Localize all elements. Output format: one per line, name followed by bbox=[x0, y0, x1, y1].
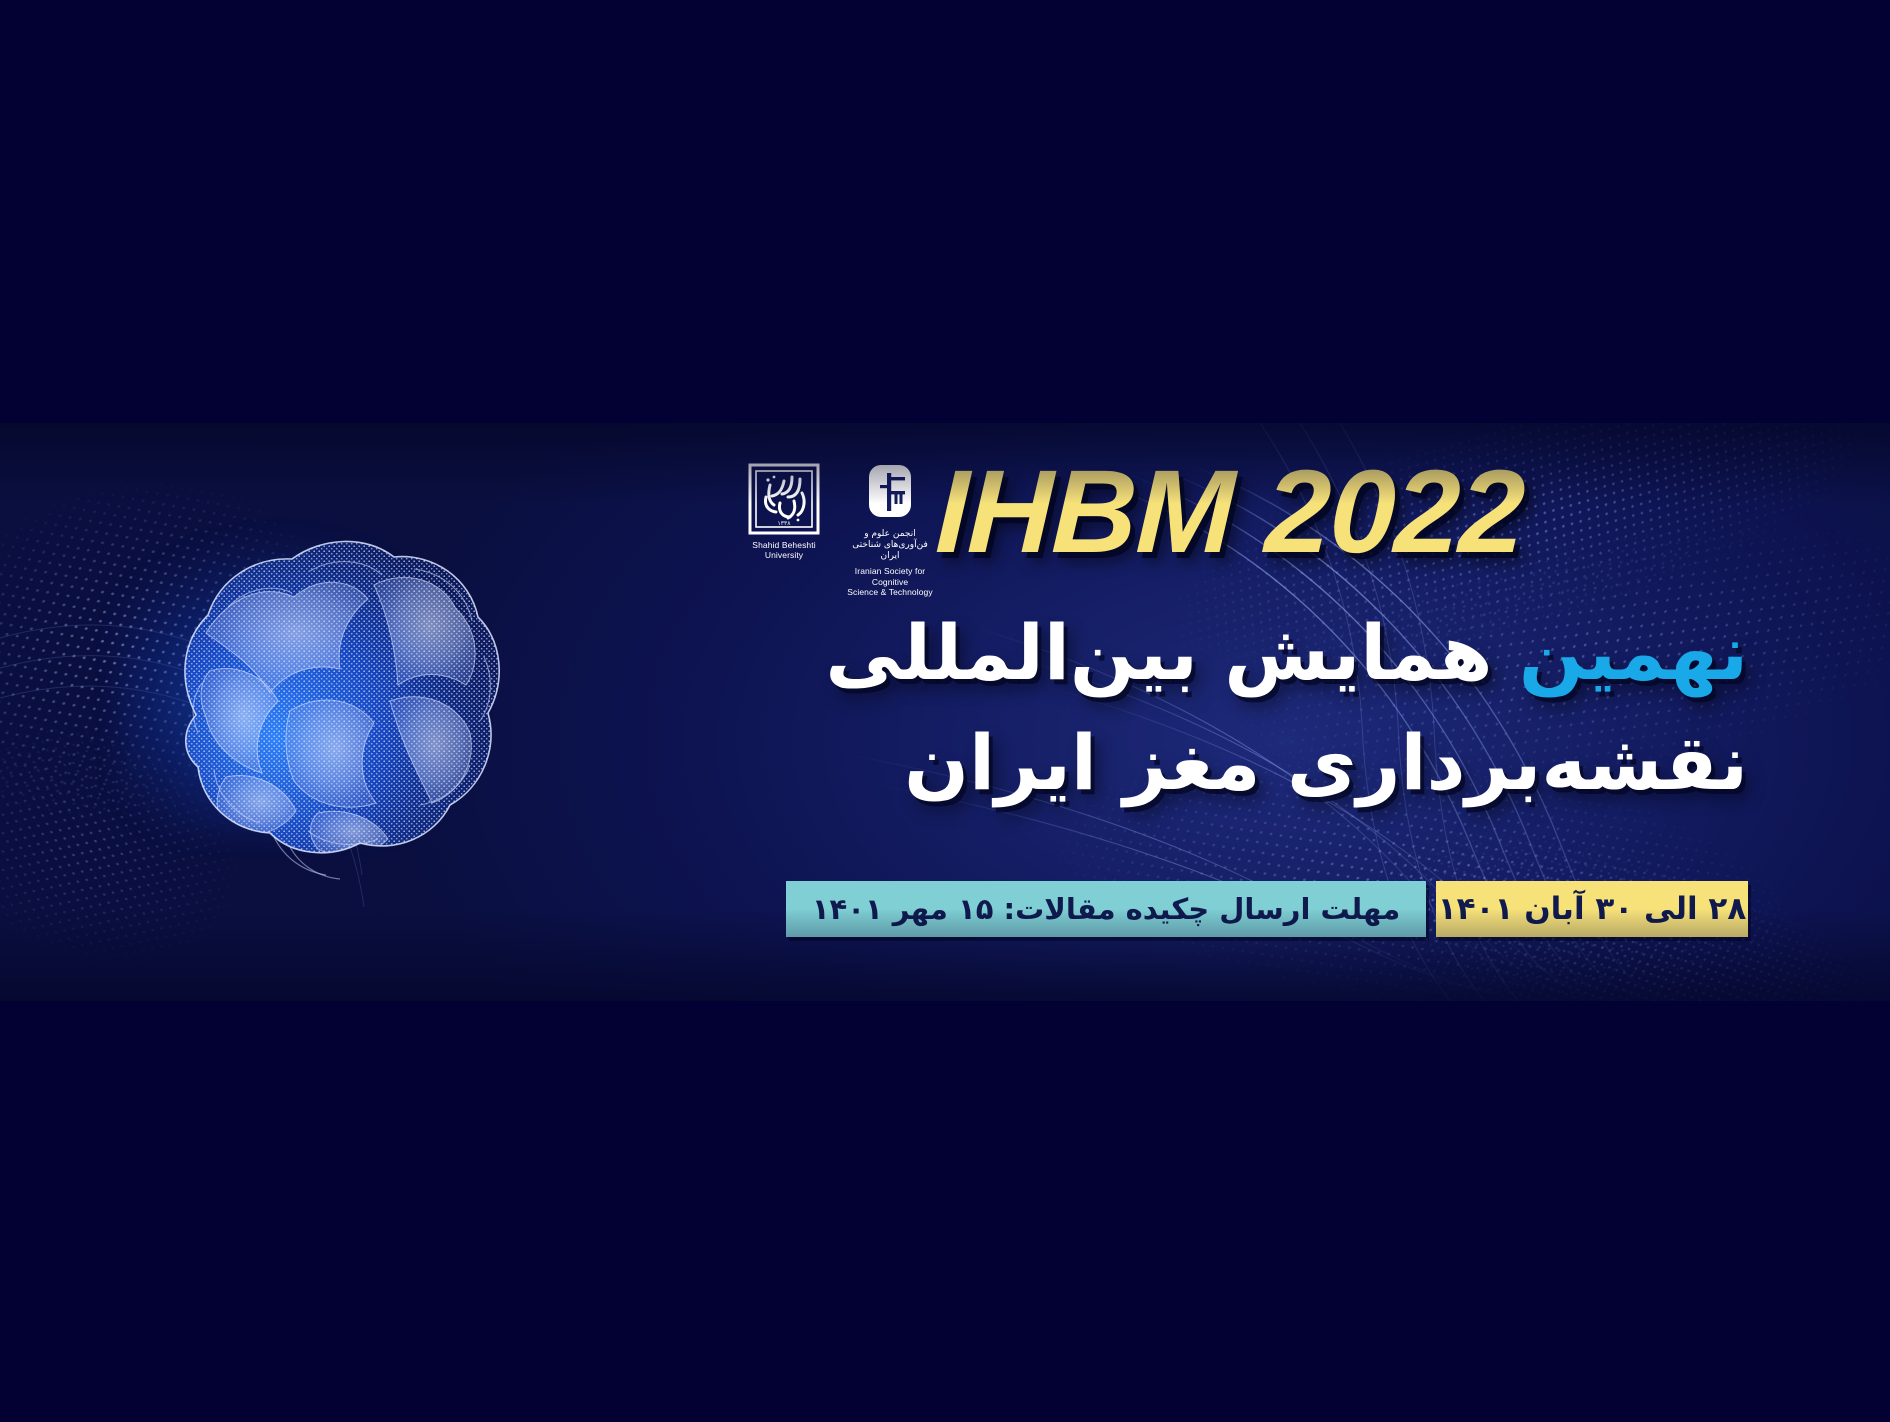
shahid-beheshti-logo-icon: ۱۳۳۸ bbox=[748, 463, 820, 535]
headline-line-2: نقشه‌برداری مغز ایران bbox=[738, 723, 1748, 803]
wireframe-brain-icon bbox=[78, 465, 548, 935]
conference-title-en: IHBM 2022 bbox=[934, 453, 1526, 571]
shahid-beheshti-caption-en-line2: University bbox=[765, 550, 803, 560]
page-root: انجمن علوم و فن‌آوری‌های شناختی ایران Ir… bbox=[0, 0, 1890, 1422]
shahid-beheshti-caption-en: Shahid Beheshti University bbox=[752, 540, 815, 561]
info-box-group: ۲۸ الی ۳۰ آبان ۱۴۰۱ مهلت ارسال چکیده مقا… bbox=[738, 881, 1748, 937]
iranian-society-caption-en-line1: Iranian Society for Cognitive bbox=[855, 566, 925, 586]
iranian-society-logo-icon bbox=[861, 463, 919, 525]
iranian-society-caption-fa: انجمن علوم و فن‌آوری‌های شناختی ایران bbox=[844, 529, 936, 561]
headline-line-1: نهمین همایش بین‌المللی bbox=[738, 613, 1748, 693]
logo-shahid-beheshti-university: ۱۳۳۸ Shahid Beheshti University bbox=[738, 463, 830, 561]
brain-inner-glow bbox=[118, 535, 478, 835]
left-dot-swirl bbox=[0, 423, 510, 927]
shahid-beheshti-established-year: ۱۳۳۸ bbox=[778, 520, 792, 527]
iranian-society-caption-en: Iranian Society for Cognitive Science & … bbox=[844, 566, 936, 597]
title-row: انجمن علوم و فن‌آوری‌های شناختی ایران Ir… bbox=[738, 453, 1748, 593]
abstract-deadline-badge: مهلت ارسال چکیده مقالات: ۱۵ مهر ۱۴۰۱ bbox=[786, 881, 1426, 937]
banner-content: انجمن علوم و فن‌آوری‌های شناختی ایران Ir… bbox=[738, 423, 1748, 1001]
headline-ordinal-highlight: نهمین bbox=[1519, 608, 1748, 697]
iranian-society-caption-en-line2: Science & Technology bbox=[847, 587, 932, 597]
conference-banner: انجمن علوم و فن‌آوری‌های شناختی ایران Ir… bbox=[0, 423, 1890, 1001]
brain-illustration bbox=[78, 465, 548, 935]
logo-group: انجمن علوم و فن‌آوری‌های شناختی ایران Ir… bbox=[738, 463, 936, 597]
headline-line-1-rest: همایش بین‌المللی bbox=[825, 608, 1519, 697]
shahid-beheshti-caption-en-line1: Shahid Beheshti bbox=[752, 540, 815, 550]
logo-iranian-society-cognitive-science: انجمن علوم و فن‌آوری‌های شناختی ایران Ir… bbox=[844, 463, 936, 597]
event-date-badge: ۲۸ الی ۳۰ آبان ۱۴۰۱ bbox=[1436, 881, 1748, 937]
left-dot-swirl-secondary bbox=[0, 646, 453, 1001]
